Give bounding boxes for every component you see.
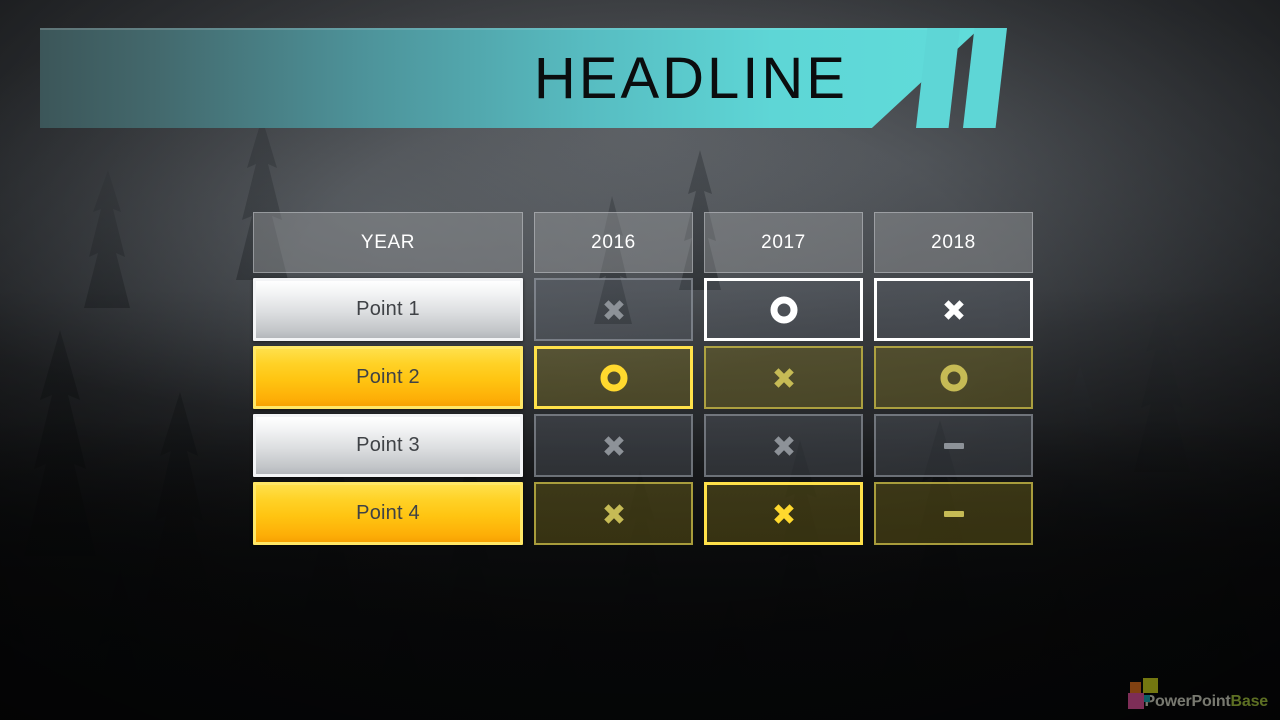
logo-text-secondary: Base [1231, 693, 1268, 710]
logo-square-orange [1130, 682, 1141, 693]
logo-square-pink [1128, 693, 1144, 709]
table-row: Point 1 [253, 278, 1023, 341]
circle-icon [599, 363, 629, 393]
header-cell-2018: 2018 [874, 212, 1033, 273]
headline-banner: HEADLINE [0, 28, 1035, 128]
cell-r1-c3-cross[interactable] [874, 278, 1033, 341]
cell-r2-c2-cross[interactable] [704, 346, 863, 409]
cross-icon [599, 431, 629, 461]
powerpointbase-logo: PowerPointBase [1128, 672, 1268, 712]
cell-r3-c1-cross[interactable] [534, 414, 693, 477]
row-label-3[interactable]: Point 3 [253, 414, 523, 477]
cell-r2-c1-circle[interactable] [534, 346, 693, 409]
circle-icon [939, 363, 969, 393]
cross-icon [599, 499, 629, 529]
cross-icon [769, 499, 799, 529]
cell-r3-c3-dash[interactable] [874, 414, 1033, 477]
cell-r4-c3-dash[interactable] [874, 482, 1033, 545]
row-label-4[interactable]: Point 4 [253, 482, 523, 545]
logo-square-yellow [1143, 678, 1158, 693]
logo-wordmark: PowerPointBase [1145, 693, 1268, 712]
table-row: Point 3 [253, 414, 1023, 477]
cell-r4-c2-cross[interactable] [704, 482, 863, 545]
banner-stripe-2 [963, 28, 1007, 128]
cross-icon [769, 431, 799, 461]
table-row: Point 4 [253, 482, 1023, 545]
circle-icon [769, 295, 799, 325]
page-title: HEADLINE [0, 28, 900, 128]
logo-square-teal [1143, 695, 1150, 702]
header-cell-2016: 2016 [534, 212, 693, 273]
dash-icon [939, 431, 969, 461]
logo-squares-icon [1128, 678, 1143, 712]
comparison-table: YEAR 2016 2017 2018 Point 1Point 2Point … [253, 212, 1023, 545]
row-label-1[interactable]: Point 1 [253, 278, 523, 341]
cross-icon [769, 363, 799, 393]
cell-r1-c1-cross[interactable] [534, 278, 693, 341]
cell-r1-c2-circle[interactable] [704, 278, 863, 341]
cross-icon [939, 295, 969, 325]
table-row: Point 2 [253, 346, 1023, 409]
logo-text-primary: PowerPoint [1145, 693, 1231, 710]
cell-r4-c1-cross[interactable] [534, 482, 693, 545]
cell-r2-c3-circle[interactable] [874, 346, 1033, 409]
row-label-2[interactable]: Point 2 [253, 346, 523, 409]
cross-icon [599, 295, 629, 325]
table-header-row: YEAR 2016 2017 2018 [253, 212, 1023, 273]
header-cell-2017: 2017 [704, 212, 863, 273]
cell-r3-c2-cross[interactable] [704, 414, 863, 477]
header-cell-year: YEAR [253, 212, 523, 273]
dash-icon [939, 499, 969, 529]
